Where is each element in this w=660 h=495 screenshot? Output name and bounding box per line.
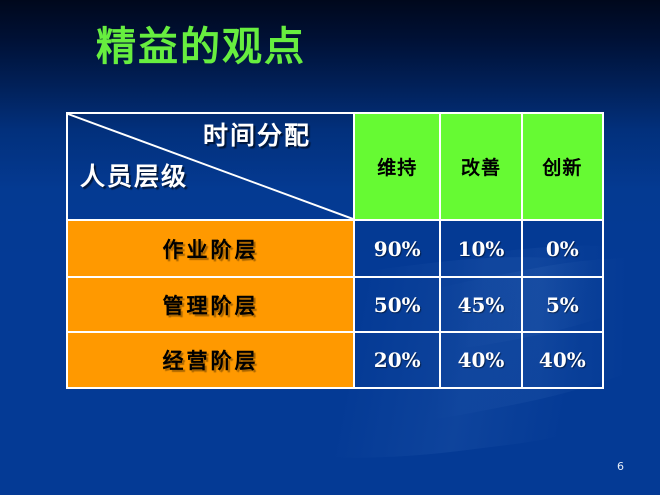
row-header-executive-level: 经营阶层: [67, 332, 354, 388]
table-row: 作业阶层 90% 10% 0%: [67, 220, 603, 277]
column-header-innovate: 创新: [522, 113, 603, 220]
cell-management-innovate: 5%: [522, 277, 603, 332]
table-header-row: 时间分配 人员层级 维持 改善 创新: [67, 113, 603, 220]
column-header-improve: 改善: [440, 113, 521, 220]
cell-executive-maintain: 20%: [354, 332, 440, 388]
time-allocation-matrix: 时间分配 人员层级 维持 改善 创新 作业阶层 90% 10% 0% 管理阶层 …: [66, 112, 604, 389]
cell-management-improve: 45%: [440, 277, 521, 332]
page-number: 6: [617, 460, 624, 473]
row-header-operational-level: 作业阶层: [67, 220, 354, 277]
matrix-corner-cell: 时间分配 人员层级: [67, 113, 354, 220]
cell-operational-maintain: 90%: [354, 220, 440, 277]
corner-label-time-allocation: 时间分配: [203, 116, 311, 152]
corner-label-personnel-level: 人员层级: [80, 157, 188, 193]
slide-title: 精益的观点: [96, 24, 306, 70]
cell-operational-innovate: 0%: [522, 220, 603, 277]
cell-management-maintain: 50%: [354, 277, 440, 332]
cell-executive-innovate: 40%: [522, 332, 603, 388]
table-row: 经营阶层 20% 40% 40%: [67, 332, 603, 388]
cell-operational-improve: 10%: [440, 220, 521, 277]
row-header-management-level: 管理阶层: [67, 277, 354, 332]
column-header-maintain: 维持: [354, 113, 440, 220]
slide-canvas: 精益的观点 时间分配 人员层级 维持 改善 创新 作业阶层 90% 10% 0%: [0, 0, 660, 495]
cell-executive-improve: 40%: [440, 332, 521, 388]
table-row: 管理阶层 50% 45% 5%: [67, 277, 603, 332]
